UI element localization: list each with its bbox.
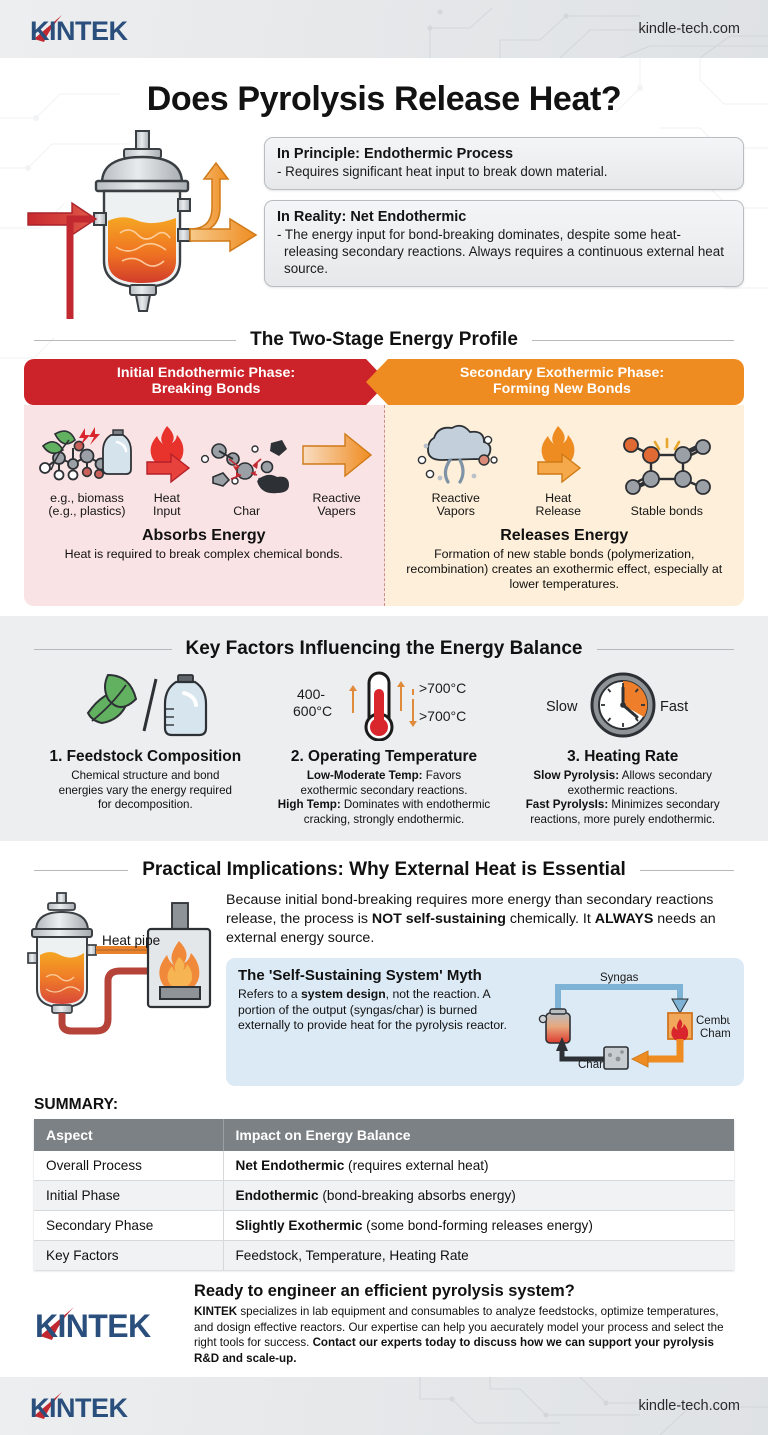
cell-impact-bold: Net Endothermic xyxy=(236,1158,345,1173)
stage-body-row: e.g., biomass(e.g., plastics) HeatInput xyxy=(24,405,744,606)
key-factors-title: Key Factors Influencing the Energy Balan… xyxy=(186,638,583,660)
thermometer-icon: 400- 600°C >700°C >700°C xyxy=(273,668,496,742)
key-factors-heading: Key Factors Influencing the Energy Balan… xyxy=(0,638,768,660)
callout-principle-body: - Requires significant heat input to bre… xyxy=(277,163,731,180)
endothermic-result: Absorbs Energy Heat is required to break… xyxy=(34,527,374,562)
flow-step-heat-release-caption: HeatRelease xyxy=(536,492,581,519)
myth-text: The 'Self-Sustaining System' Myth Refers… xyxy=(238,967,522,1076)
myth-cycle-diagram: Syngas Char Cembustion Chamber xyxy=(522,967,732,1076)
myth-title: The 'Self-Sustaining System' Myth xyxy=(238,967,522,984)
syngas-label: Syngas xyxy=(600,972,639,984)
cta-text: Ready to engineer an efficient pyrolysis… xyxy=(194,1282,740,1367)
practical-paragraph: Because initial bond-breaking requires m… xyxy=(226,891,744,948)
kintek-logo-icon: KINTEK xyxy=(28,1389,146,1423)
flow-step-char-caption: Char xyxy=(233,505,260,519)
clock-fast-label: Fast xyxy=(660,699,688,715)
summary-label: SUMMARY: xyxy=(34,1096,734,1114)
flow-step-biomass-caption: e.g., biomass(e.g., plastics) xyxy=(48,492,125,519)
table-row: Overall Process Net Endothermic (require… xyxy=(34,1151,734,1181)
line-1-bold: Slow Pyrolysis: xyxy=(533,769,619,782)
flow-step-reactive-vapors: ReactiveVapors xyxy=(410,415,502,519)
cell-impact-rest: Feedstock, Temperature, Heating Rate xyxy=(236,1248,469,1263)
key-factor-feedstock-title: 1. Feedstock Composition xyxy=(34,748,257,766)
key-factor-heating-rate-title: 3. Heating Rate xyxy=(511,748,734,766)
myth-body: Refers to a system design, not the react… xyxy=(238,987,522,1034)
pyrolysis-reactor-illustration xyxy=(24,129,260,319)
cta-body: KINTEK specializes in lab equipment and … xyxy=(194,1304,740,1367)
heat-pipe-label: Heat pipe xyxy=(102,933,160,948)
banner-exothermic-line1: Secondary Exothermic Phase: xyxy=(460,365,664,381)
svg-text:KINTEK: KINTEK xyxy=(30,1393,129,1423)
line-3-bold: High Temp: xyxy=(278,798,341,811)
cell-impact-rest: (bond-breaking absorbs energy) xyxy=(319,1188,516,1203)
banner-exothermic-line2: Forming New Bonds xyxy=(493,381,631,397)
callout-reality-heading: In Reality: Net Endothermic xyxy=(277,209,731,225)
combustion-chamber-label-line1: Cembustion xyxy=(696,1015,730,1027)
para-part-4: ALWAYS xyxy=(595,911,654,927)
cta-section: KINTEK Ready to engineer an efficient py… xyxy=(0,1270,768,1377)
combustion-chamber-label-line2: Chamber xyxy=(700,1028,730,1040)
flame-arrow-icon xyxy=(532,422,584,488)
clock-gauge-icon: Slow Fast xyxy=(511,668,734,742)
flame-arrow-icon xyxy=(141,422,193,488)
line-3: for decomposition. xyxy=(98,798,193,811)
exothermic-result-body: Formation of new stable bonds (polymeriz… xyxy=(395,547,735,592)
temp-high-top: >700°C xyxy=(419,680,466,696)
line-1: Allows secondary xyxy=(619,769,712,782)
callout-reality: In Reality: Net Endothermic - The energy… xyxy=(264,200,744,287)
rule-right xyxy=(597,649,735,650)
cell-aspect: Overall Process xyxy=(34,1151,223,1181)
line-1: Favors xyxy=(423,769,462,782)
key-factor-feedstock: 1. Feedstock Composition Chemical struct… xyxy=(26,668,265,827)
kintek-logo-icon: KINTEK xyxy=(33,1303,173,1345)
flow-step-reactive-vapors-caption: ReactiveVapors xyxy=(432,492,480,519)
rule-left xyxy=(34,870,128,871)
page-footer: KINTEK kindle-tech.com xyxy=(0,1377,768,1435)
footer-logo[interactable]: KINTEK xyxy=(28,1389,146,1423)
temp-low-line1: 400- xyxy=(297,686,325,702)
line-1-bold: Low-Moderate Temp: xyxy=(307,769,423,782)
flow-step-stable-bonds: Stable bonds xyxy=(615,415,719,519)
line-2: energies vary the energy required xyxy=(59,784,232,797)
line-2: exothermic reactions. xyxy=(568,784,678,797)
cell-impact: Net Endothermic (requires external heat) xyxy=(223,1151,734,1181)
banner-exothermic: Secondary Exothermic Phase: Forming New … xyxy=(366,359,744,405)
clock-slow-label: Slow xyxy=(546,699,578,715)
cell-aspect: Secondary Phase xyxy=(34,1210,223,1240)
title-section: Does Pyrolysis Release Heat? xyxy=(0,58,768,125)
cell-aspect: Key Factors xyxy=(34,1240,223,1270)
self-sustaining-myth-box: The 'Self-Sustaining System' Myth Refers… xyxy=(226,958,744,1086)
cell-impact-bold: Slightly Exothermic xyxy=(236,1218,363,1233)
flow-step-heat-input-caption: HeatInput xyxy=(153,492,181,519)
cell-impact: Feedstock, Temperature, Heating Rate xyxy=(223,1240,734,1270)
endothermic-result-body: Heat is required to break complex chemic… xyxy=(34,547,374,562)
line-3: Minimizes secondary xyxy=(608,798,719,811)
myth-part-1: Refers to a xyxy=(238,987,301,1001)
callout-reality-body: - The energy input for bond-breaking dom… xyxy=(277,226,731,277)
table-row: Key Factors Feedstock, Temperature, Heat… xyxy=(34,1240,734,1270)
key-factor-temperature: 400- 600°C >700°C >700°C xyxy=(265,668,504,827)
table-header-row: Aspect Impact on Energy Balance xyxy=(34,1119,734,1151)
char-fragments-icon xyxy=(195,435,299,501)
flow-step-stable-bonds-caption: Stable bonds xyxy=(631,505,703,519)
key-factor-temperature-body: Low-Moderate Temp: Favors exothermic sec… xyxy=(273,769,496,827)
stage-exothermic: ReactiveVapors HeatRelease xyxy=(385,405,745,606)
column-header-aspect: Aspect xyxy=(34,1119,223,1151)
line-2: exothermic secondary reactions. xyxy=(301,784,468,797)
line-1: Chemical structure and bond xyxy=(71,769,219,782)
leaf-bottle-icon xyxy=(34,668,257,742)
cta-heading: Ready to engineer an efficient pyrolysis… xyxy=(194,1282,740,1301)
banner-endothermic: Initial Endothermic Phase: Breaking Bond… xyxy=(24,359,388,405)
key-factor-temperature-title: 2. Operating Temperature xyxy=(273,748,496,766)
key-factors-row: 1. Feedstock Composition Chemical struct… xyxy=(0,668,768,827)
exothermic-result: Releases Energy Formation of new stable … xyxy=(395,527,735,592)
footer-url[interactable]: kindle-tech.com xyxy=(638,1398,740,1414)
practical-text: Because initial bond-breaking requires m… xyxy=(220,891,744,1086)
flow-step-biomass: e.g., biomass(e.g., plastics) xyxy=(35,415,139,519)
reactor-furnace-illustration: Heat pipe xyxy=(24,891,220,1066)
two-stage-heading: The Two-Stage Energy Profile xyxy=(0,329,768,351)
key-factor-heating-rate: Slow Fast 3. He xyxy=(503,668,742,827)
key-factors-section: Key Factors Influencing the Energy Balan… xyxy=(0,616,768,841)
rule-left xyxy=(34,649,172,650)
line-4: reactions, more purely endothermic. xyxy=(530,813,715,826)
cta-logo[interactable]: KINTEK xyxy=(28,1303,178,1345)
flow-step-reactive-vapers-caption: ReactiveVapers xyxy=(312,492,360,519)
cell-impact-rest: (some bond-forming releases energy) xyxy=(362,1218,592,1233)
header-logo[interactable]: KINTEK xyxy=(28,12,146,46)
cta-part-1: KINTEK xyxy=(194,1305,237,1318)
callout-list: In Principle: Endothermic Process - Requ… xyxy=(260,129,744,319)
para-part-3: chemically. It xyxy=(506,911,595,927)
callout-principle: In Principle: Endothermic Process - Requ… xyxy=(264,137,744,190)
practical-title: Practical Implications: Why External Hea… xyxy=(142,859,626,881)
key-factor-heating-rate-body: Slow Pyrolysis: Allows secondary exother… xyxy=(511,769,734,827)
molecule-biomass-plastic-icon xyxy=(35,422,139,488)
gradient-arrow-icon xyxy=(301,422,373,488)
table-row: Secondary Phase Slightly Exothermic (som… xyxy=(34,1210,734,1240)
summary-section: SUMMARY: Aspect Impact on Energy Balance… xyxy=(0,1086,768,1270)
rule-left xyxy=(34,340,236,341)
practical-section: Practical Implications: Why External Hea… xyxy=(0,841,768,1086)
temp-high-bottom: >700°C xyxy=(419,708,466,724)
cell-aspect: Initial Phase xyxy=(34,1180,223,1210)
page-title: Does Pyrolysis Release Heat? xyxy=(0,80,768,119)
exothermic-flow: ReactiveVapors HeatRelease xyxy=(395,415,735,519)
cell-impact-rest: (requires external heat) xyxy=(344,1158,488,1173)
banner-endothermic-line1: Initial Endothermic Phase: xyxy=(117,365,295,381)
cell-impact-bold: Endothermic xyxy=(236,1188,319,1203)
exothermic-result-title: Releases Energy xyxy=(395,527,735,545)
stage-endothermic: e.g., biomass(e.g., plastics) HeatInput xyxy=(24,405,385,606)
flow-step-heat-input: HeatInput xyxy=(141,415,193,519)
rule-right xyxy=(532,340,734,341)
para-part-2: NOT self-sustaining xyxy=(372,911,506,927)
flow-step-char: Char xyxy=(195,415,299,519)
myth-part-2: system design xyxy=(301,987,386,1001)
cell-impact: Slightly Exothermic (some bond-forming r… xyxy=(223,1210,734,1240)
flow-step-reactive-vapers: ReactiveVapers xyxy=(301,415,373,519)
practical-heading: Practical Implications: Why External Hea… xyxy=(0,859,768,881)
temp-low-line2: 600°C xyxy=(293,703,332,719)
endothermic-flow: e.g., biomass(e.g., plastics) HeatInput xyxy=(34,415,374,519)
two-stage-section: Initial Endothermic Phase: Breaking Bond… xyxy=(24,359,744,606)
two-stage-title: The Two-Stage Energy Profile xyxy=(250,329,518,351)
summary-table: Aspect Impact on Energy Balance Overall … xyxy=(34,1119,734,1270)
callout-principle-heading: In Principle: Endothermic Process xyxy=(277,146,731,162)
stable-bond-molecule-icon xyxy=(615,435,719,501)
page-header: KINTEK kindle-tech.com xyxy=(0,0,768,58)
endothermic-result-title: Absorbs Energy xyxy=(34,527,374,545)
column-header-impact: Impact on Energy Balance xyxy=(223,1119,734,1151)
hero-section: In Principle: Endothermic Process - Requ… xyxy=(0,125,768,319)
cell-impact: Endothermic (bond-breaking absorbs energ… xyxy=(223,1180,734,1210)
line-3-bold: Fast PyrolysIs: xyxy=(526,798,608,811)
svg-text:KINTEK: KINTEK xyxy=(35,1308,151,1344)
stage-banner-row: Initial Endothermic Phase: Breaking Bond… xyxy=(24,359,744,405)
header-url[interactable]: kindle-tech.com xyxy=(638,21,740,37)
line-4: cracking, strongly endothermic. xyxy=(304,813,464,826)
char-label: Char xyxy=(578,1059,603,1071)
banner-endothermic-line2: Breaking Bonds xyxy=(152,381,261,397)
vapor-cloud-icon xyxy=(410,422,502,488)
kintek-logo-icon: KINTEK xyxy=(28,12,146,46)
line-3: Dominates with endothermic xyxy=(341,798,491,811)
key-factor-feedstock-body: Chemical structure and bond energies var… xyxy=(34,769,257,812)
flow-step-heat-release: HeatRelease xyxy=(532,415,584,519)
practical-row: Heat pipe Because initial bond-breaking … xyxy=(0,889,768,1086)
rule-right xyxy=(640,870,734,871)
svg-text:KINTEK: KINTEK xyxy=(30,16,129,46)
table-row: Initial Phase Endothermic (bond-breaking… xyxy=(34,1180,734,1210)
